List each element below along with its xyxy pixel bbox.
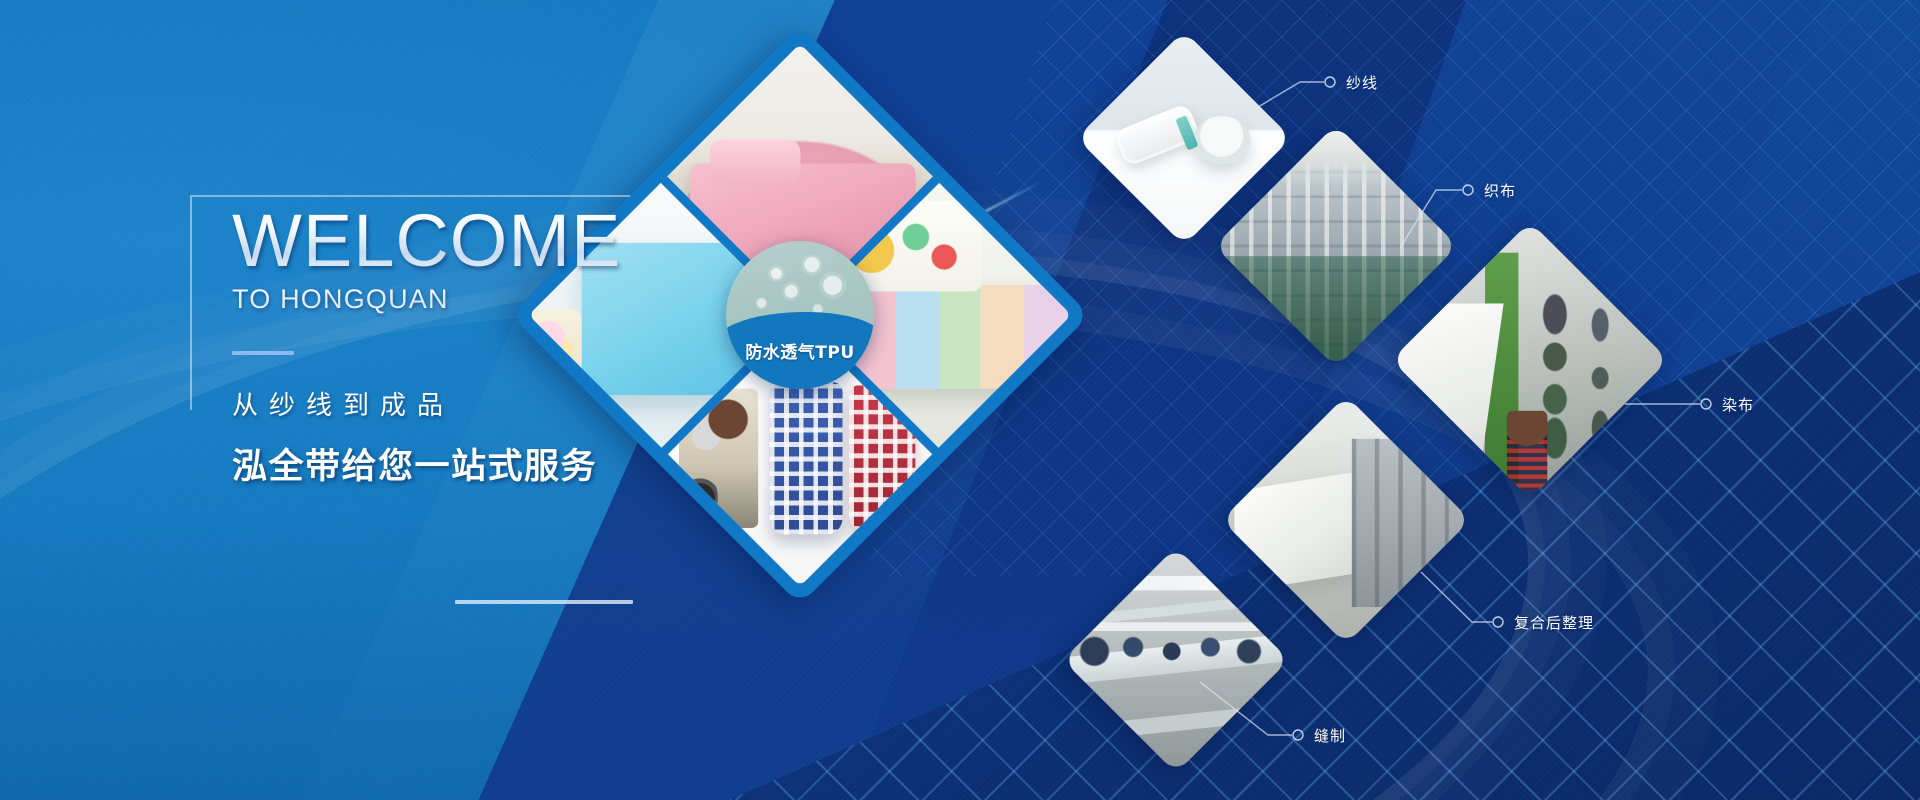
page-title: WELCOME — [232, 205, 792, 276]
process-label-sewing: 缝制 — [1314, 725, 1346, 746]
process-label-dyeing: 染布 — [1722, 394, 1754, 415]
process-label-lamination: 复合后整理 — [1514, 612, 1594, 633]
process-label-weaving: 织布 — [1484, 180, 1516, 201]
hero-banner: WELCOME TO HONGQUAN 从纱线到成品 泓全带给您一站式服务 防水… — [0, 0, 1920, 800]
hero-copy-block: WELCOME TO HONGQUAN 从纱线到成品 泓全带给您一站式服务 — [232, 205, 792, 489]
process-label-yarn: 纱线 — [1346, 72, 1378, 93]
slogan-chinese: 泓全带给您一站式服务 — [232, 438, 792, 489]
bottom-divider-rule — [455, 600, 633, 604]
page-subtitle: TO HONGQUAN — [232, 284, 792, 315]
accent-rule — [232, 351, 294, 355]
tagline-chinese: 从纱线到成品 — [232, 385, 792, 422]
